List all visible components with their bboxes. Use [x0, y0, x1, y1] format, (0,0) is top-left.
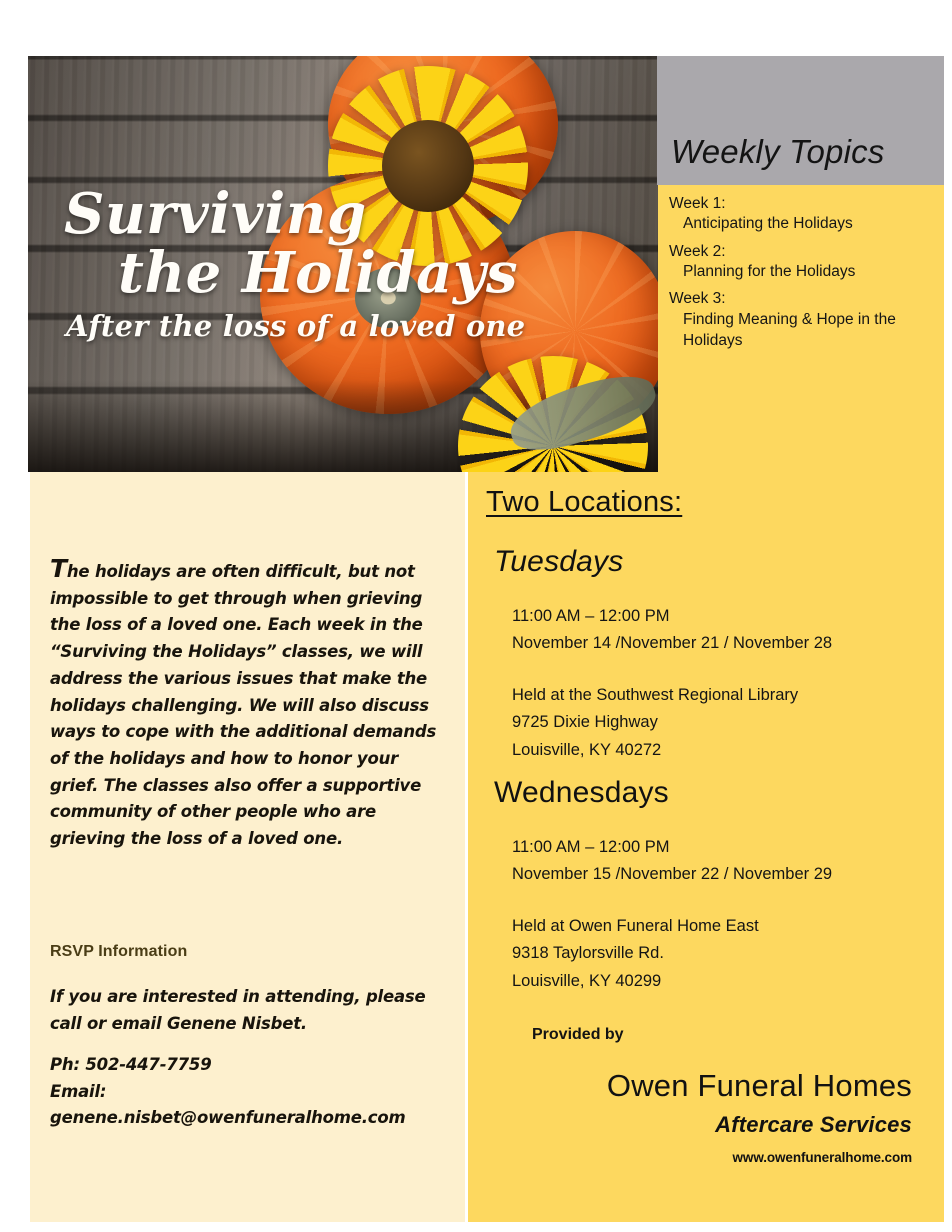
rsvp-instructions: If you are interested in attending, plea…	[50, 984, 440, 1037]
wednesday-heading: Wednesdays	[494, 776, 669, 810]
flyer-page: Surviving the Holidays After the loss of…	[0, 0, 952, 1232]
weekly-topics-header: Weekly Topics	[657, 56, 944, 185]
flyer-title-line-1: Surviving	[28, 186, 588, 242]
intro-paragraph: The holidays are often difficult, but no…	[50, 556, 440, 853]
tuesday-street: 9725 Dixie Highway	[512, 709, 798, 736]
rsvp-phone: Ph: 502-447-7759	[50, 1052, 450, 1079]
week-2-topic: Planning for the Holidays	[669, 263, 937, 281]
brand-website[interactable]: www.owenfuneralhome.com	[733, 1150, 912, 1165]
weekly-topics-list: Week 1: Anticipating the Holidays Week 2…	[669, 190, 937, 360]
locations-heading: Two Locations:	[486, 486, 682, 519]
brand-name: Owen Funeral Homes	[607, 1068, 912, 1104]
wednesday-dates: November 15 /November 22 / November 29	[512, 861, 832, 888]
drop-cap: T	[50, 554, 67, 583]
wednesday-street: 9318 Taylorsville Rd.	[512, 940, 759, 967]
wednesday-schedule: 11:00 AM – 12:00 PM November 15 /Novembe…	[512, 834, 832, 889]
tuesday-heading: Tuesdays	[494, 545, 623, 579]
tuesday-dates: November 14 /November 21 / November 28	[512, 630, 832, 657]
rsvp-contact-block: Ph: 502-447-7759 Email: genene.nisbet@ow…	[50, 1052, 450, 1132]
week-3-topic: Finding Meaning & Hope in the Holidays	[669, 310, 937, 351]
wednesday-venue: Held at Owen Funeral Home East	[512, 913, 759, 940]
tuesday-venue-block: Held at the Southwest Regional Library 9…	[512, 682, 798, 764]
flyer-subtitle: After the loss of a loved one	[28, 305, 588, 349]
provided-by-label: Provided by	[532, 1026, 624, 1044]
hero-photo: Surviving the Holidays After the loss of…	[28, 56, 658, 472]
week-1-topic: Anticipating the Holidays	[669, 215, 937, 233]
week-2-label: Week 2:	[669, 243, 937, 261]
rsvp-email[interactable]: genene.nisbet@owenfuneralhome.com	[50, 1105, 450, 1132]
wednesday-venue-block: Held at Owen Funeral Home East 9318 Tayl…	[512, 913, 759, 995]
wednesday-city-state-zip: Louisville, KY 40299	[512, 968, 759, 995]
rsvp-email-label: Email:	[50, 1079, 450, 1106]
weekly-topics-heading: Weekly Topics	[671, 133, 885, 171]
tuesday-schedule: 11:00 AM – 12:00 PM November 14 /Novembe…	[512, 603, 832, 658]
rsvp-heading: RSVP Information	[50, 943, 187, 961]
tuesday-venue: Held at the Southwest Regional Library	[512, 682, 798, 709]
hero-title-block: Surviving the Holidays After the loss of…	[28, 186, 588, 348]
brand-subtitle: Aftercare Services	[715, 1112, 912, 1138]
flyer-title-line-2: the Holidays	[28, 242, 588, 305]
tuesday-city-state-zip: Louisville, KY 40272	[512, 737, 798, 764]
wednesday-time: 11:00 AM – 12:00 PM	[512, 834, 832, 861]
tuesday-time: 11:00 AM – 12:00 PM	[512, 603, 832, 630]
intro-paragraph-text: he holidays are often difficult, but not…	[50, 562, 436, 848]
week-3-label: Week 3:	[669, 290, 937, 308]
week-1-label: Week 1:	[669, 195, 937, 213]
